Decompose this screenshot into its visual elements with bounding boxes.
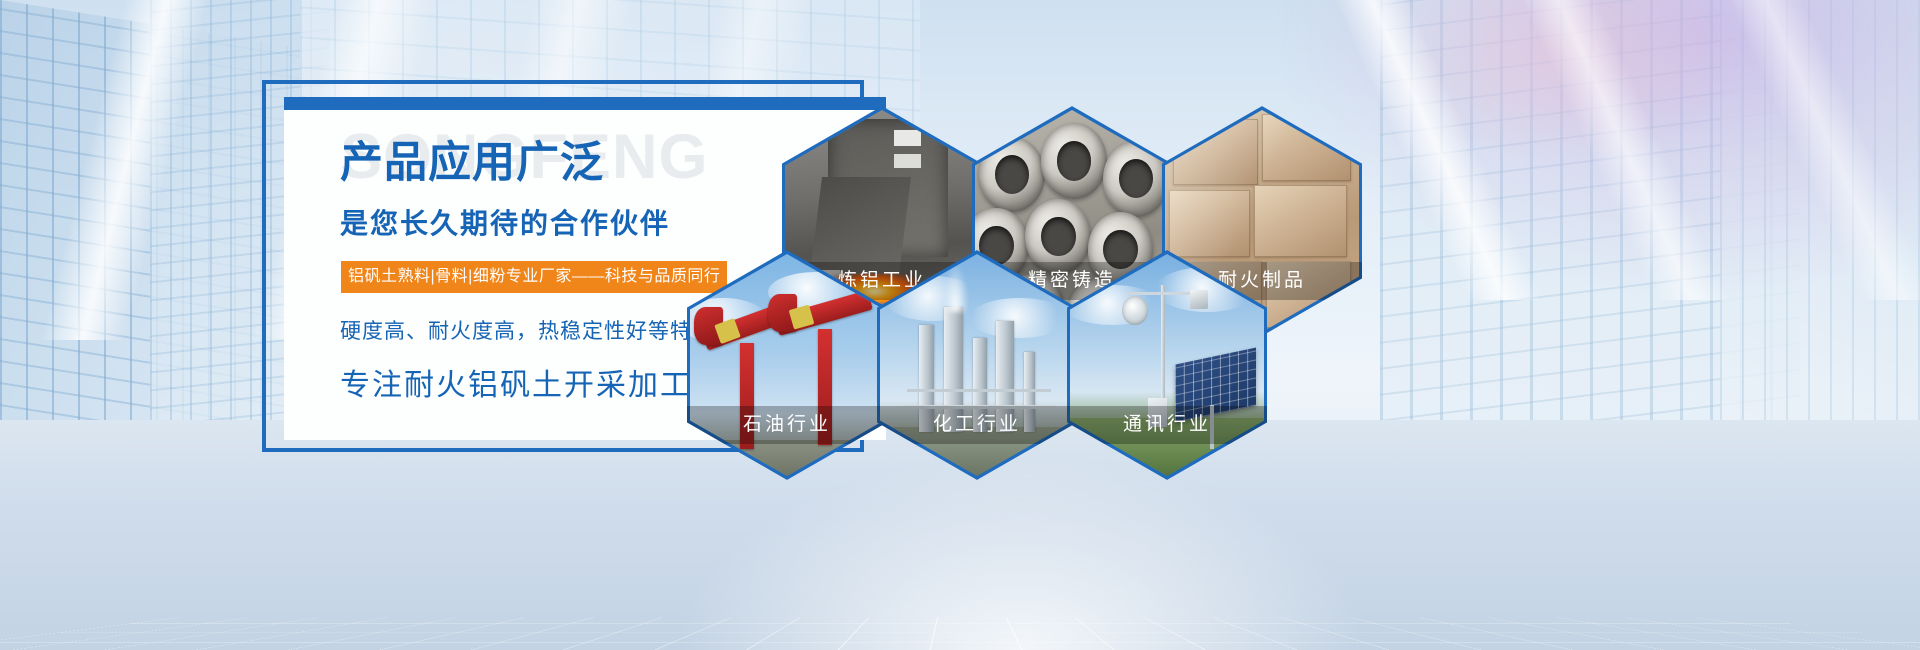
page-subtitle: 是您长久期待的合作伙伴 [340,202,670,242]
company-slogan: 专注耐火铝矾土开采加工 [340,360,692,404]
background-pink-haze [1380,0,1740,160]
hex-label-petroleum-industry: 石油行业 [687,406,887,444]
page-title: 产品应用广泛 [340,141,604,186]
feature-text: 硬度高、耐火度高，热稳定性好等特性 [340,315,714,345]
hex-label-chemical-industry: 化工行业 [877,406,1077,444]
satellite-dish-icon [1122,296,1147,325]
industry-hexagon-grid: 炼铝工业 精密铸造 耐火 [660,78,1280,518]
hex-label-telecom-industry: 通讯行业 [1067,406,1267,444]
promo-banner: SONGFENG 产品应用广泛 是您长久期待的合作伙伴 铝矾土熟料|骨料|细粉专… [0,0,1920,650]
